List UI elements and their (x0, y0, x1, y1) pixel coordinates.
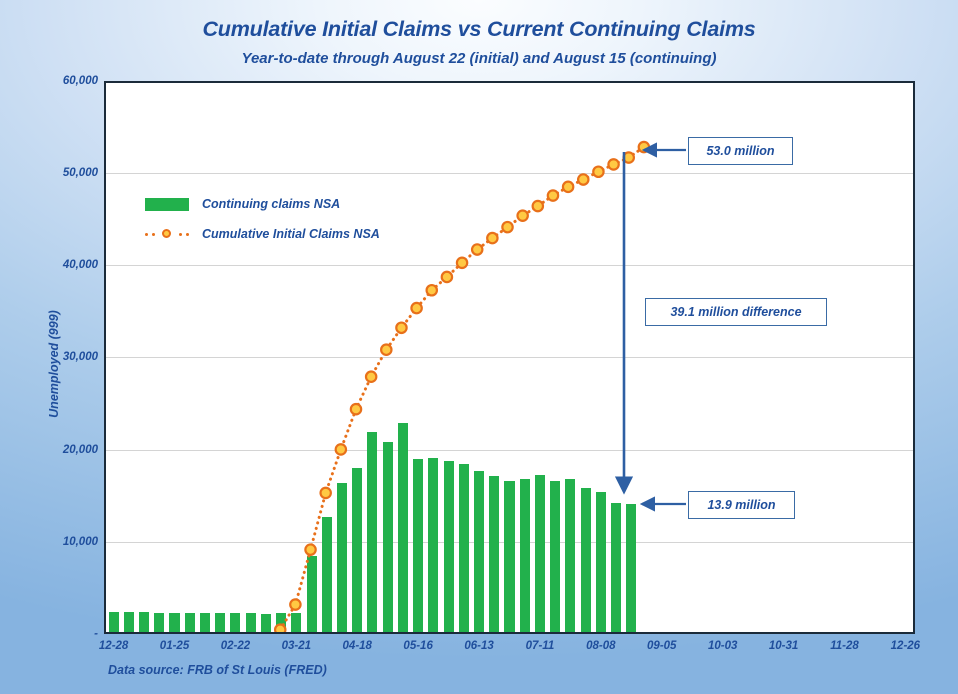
bar (581, 488, 591, 632)
x-tick-label: 12-28 (99, 640, 128, 652)
chart-title: Cumulative Initial Claims vs Current Con… (0, 17, 958, 42)
x-tick-label: 02-22 (221, 640, 250, 652)
x-tick-label: 07-11 (526, 640, 555, 652)
x-tick-label: 01-25 (160, 640, 189, 652)
x-tick-label: 12-26 (891, 640, 920, 652)
plot-area (104, 81, 915, 634)
bar (428, 458, 438, 632)
bar (413, 459, 423, 632)
chart-subtitle: Year-to-date through August 22 (initial)… (0, 50, 958, 67)
x-tick-label: 03-21 (282, 640, 311, 652)
x-tick-label: 05-16 (403, 640, 432, 652)
bar (550, 481, 560, 632)
bar (246, 613, 256, 632)
bar (474, 471, 484, 632)
x-tick-label: 06-13 (464, 640, 493, 652)
bar (215, 613, 225, 632)
x-tick-label: 08-08 (586, 640, 615, 652)
bar (291, 613, 301, 632)
legend-item-continuing-claims: Continuing claims NSA (145, 193, 380, 215)
bar (565, 479, 575, 632)
bar (322, 517, 332, 632)
bar (276, 613, 286, 632)
bar (444, 461, 454, 632)
y-axis-title: Unemployed (999) (47, 224, 61, 504)
y-tick-60000: 60,000 (38, 75, 98, 87)
y-tick-50000: 50,000 (38, 167, 98, 179)
legend-swatch-orange-dotted-line (145, 228, 189, 241)
bar-series-continuing-claims (106, 83, 913, 632)
source-note: Data source: FRB of St Louis (FRED) (108, 663, 327, 677)
bar (169, 613, 179, 632)
x-axis-tick-labels: 12-2801-2502-2203-2104-1805-1606-1307-11… (104, 640, 915, 660)
bar (352, 468, 362, 632)
x-tick-label: 09-05 (647, 640, 676, 652)
bar (459, 464, 469, 632)
legend-marker-circle-icon (162, 229, 171, 238)
chart-canvas: Cumulative Initial Claims vs Current Con… (0, 0, 958, 694)
y-tick-10000: 10,000 (38, 536, 98, 548)
callout-13-9-million: 13.9 million (688, 491, 795, 519)
legend-item-cumulative-initial-claims: Cumulative Initial Claims NSA (145, 223, 380, 245)
callout-53-million: 53.0 million (688, 137, 793, 165)
bar (596, 492, 606, 632)
bar (139, 612, 149, 632)
bar (398, 423, 408, 632)
bar (185, 613, 195, 632)
x-tick-label: 11-28 (830, 640, 859, 652)
bar (124, 612, 134, 632)
bar (261, 614, 271, 632)
x-tick-label: 04-18 (343, 640, 372, 652)
y-axis-tick-labels: 60,000 50,000 40,000 30,000 20,000 10,00… (36, 81, 98, 634)
bar (367, 432, 377, 632)
bar (535, 475, 545, 632)
bar (489, 476, 499, 632)
bar (200, 613, 210, 632)
bar (109, 612, 119, 632)
chart-legend: Continuing claims NSA Cumulative Initial… (145, 193, 380, 253)
bar (504, 481, 514, 632)
bar (154, 613, 164, 632)
bar (611, 503, 621, 632)
x-tick-label: 10-03 (708, 640, 737, 652)
y-tick-0: - (38, 628, 98, 640)
bar (626, 504, 636, 632)
legend-swatch-green-bar (145, 198, 189, 211)
bar (520, 479, 530, 632)
legend-label-cumulative-initial-claims: Cumulative Initial Claims NSA (202, 227, 380, 241)
legend-label-continuing-claims: Continuing claims NSA (202, 197, 340, 211)
bar (337, 483, 347, 632)
callout-difference: 39.1 million difference (645, 298, 827, 326)
bar (307, 556, 317, 632)
bar (230, 613, 240, 632)
x-tick-label: 10-31 (769, 640, 798, 652)
bar (383, 442, 393, 632)
